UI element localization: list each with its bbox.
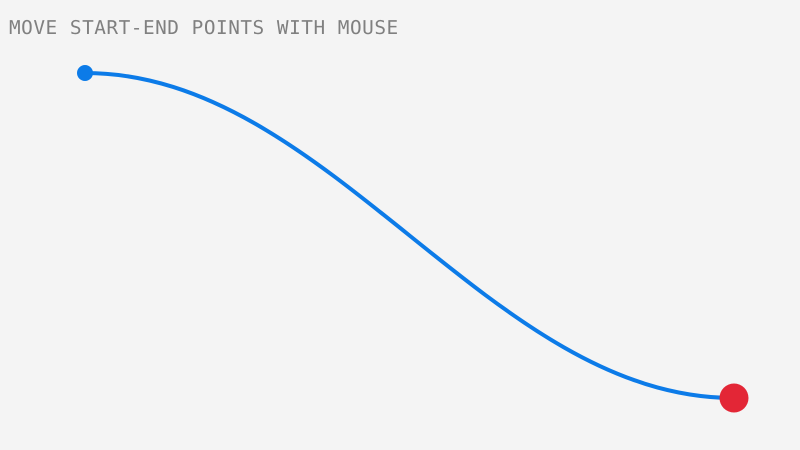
end-point-handle[interactable] <box>720 384 749 413</box>
bezier-canvas[interactable] <box>0 0 800 450</box>
start-point-handle[interactable] <box>77 65 93 81</box>
page-title: MOVE START-END POINTS WITH MOUSE <box>9 17 399 39</box>
app-root: MOVE START-END POINTS WITH MOUSE <box>0 0 800 450</box>
canvas-background <box>0 0 800 450</box>
